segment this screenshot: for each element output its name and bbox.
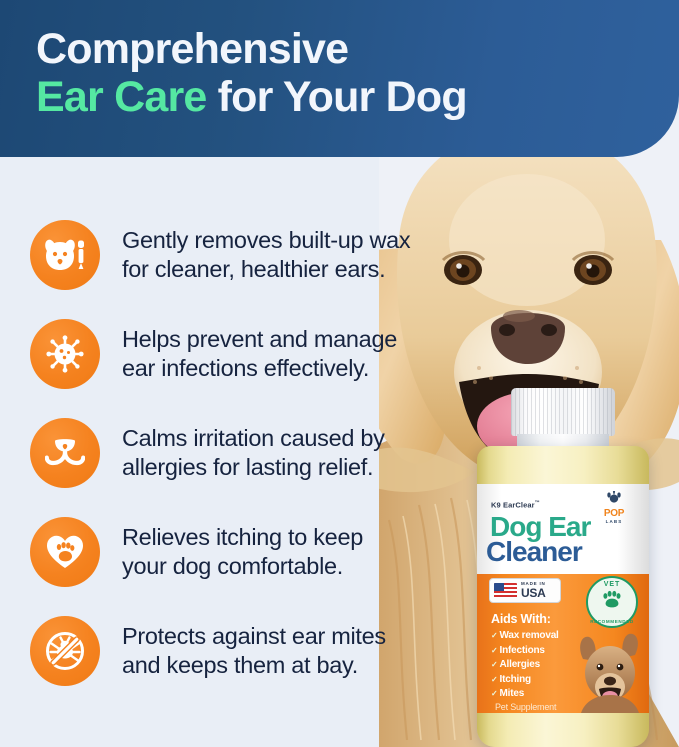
feature-item: Relieves itching to keep your dog comfor… bbox=[30, 502, 500, 601]
supplement-label: Pet Supplement bbox=[495, 702, 556, 712]
product-bottle: K9 EarClear™ POP LABS bbox=[477, 388, 649, 747]
poplabs-mark-icon bbox=[606, 491, 622, 508]
aids-list-item: ✓Allergies bbox=[491, 658, 559, 673]
feature-text: Protects against ear mites and keeps the… bbox=[122, 622, 386, 680]
feature-text-line: ear infections effectively. bbox=[122, 354, 397, 383]
headline-tail-text: for Your Dog bbox=[207, 73, 467, 121]
feature-text-line: Relieves itching to keep bbox=[122, 523, 363, 552]
label-brand-line: K9 EarClear™ bbox=[491, 500, 540, 510]
feature-text: Helps prevent and manage ear infections … bbox=[122, 325, 397, 383]
headline-accent-text: Ear Care bbox=[36, 73, 207, 121]
aids-list-item: ✓Itching bbox=[491, 673, 559, 688]
trademark-symbol: ™ bbox=[535, 500, 540, 506]
aids-item-label: Wax removal bbox=[500, 630, 559, 641]
feature-item: Calms irritation caused by allergies for… bbox=[30, 403, 500, 502]
feature-text: Gently removes built-up wax for cleaner,… bbox=[122, 226, 410, 284]
bottle-body: K9 EarClear™ POP LABS bbox=[477, 446, 649, 747]
feature-icon-circle bbox=[30, 616, 100, 686]
aids-with-title: Aids With: bbox=[491, 612, 551, 626]
aids-list-item: ✓Wax removal bbox=[491, 629, 559, 644]
feature-text-line: allergies for lasting relief. bbox=[122, 453, 385, 482]
vet-badge-inner: VET RECOMMENDED bbox=[588, 576, 636, 628]
feature-text-line: your dog comfortable. bbox=[122, 552, 363, 581]
usa-text: USA bbox=[521, 587, 546, 599]
feature-text: Calms irritation caused by allergies for… bbox=[122, 424, 385, 482]
dropper-cap bbox=[511, 388, 615, 436]
label-dog-photo bbox=[573, 625, 647, 713]
bottle-label: K9 EarClear™ POP LABS bbox=[477, 484, 649, 713]
feature-icon-circle bbox=[30, 517, 100, 587]
feature-text-line: Calms irritation caused by bbox=[122, 424, 385, 453]
feature-text-line: Helps prevent and manage bbox=[122, 325, 397, 354]
header-banner: Comprehensive Ear Care for Your Dog bbox=[0, 0, 679, 157]
vet-badge-top-text: VET bbox=[588, 581, 636, 588]
usa-flag-icon bbox=[494, 583, 517, 598]
feature-text-line: for cleaner, healthier ears. bbox=[122, 255, 410, 284]
check-icon: ✓ bbox=[491, 646, 498, 655]
feature-icon-circle bbox=[30, 220, 100, 290]
no-mite-icon bbox=[45, 631, 85, 671]
heart-paw-icon bbox=[46, 534, 84, 569]
feature-text: Relieves itching to keep your dog comfor… bbox=[122, 523, 363, 581]
dog-snout-icon bbox=[45, 438, 85, 468]
poplabs-sublabel: LABS bbox=[595, 519, 633, 525]
aids-with-list: ✓Wax removal ✓Infections ✓Allergies ✓Itc… bbox=[491, 629, 559, 702]
poplabs-logo: POP LABS bbox=[595, 491, 633, 525]
dog-head-dropper-icon bbox=[44, 238, 86, 272]
feature-text-line: Protects against ear mites bbox=[122, 622, 386, 651]
headline-block: Comprehensive Ear Care for Your Dog bbox=[36, 25, 646, 121]
usa-badge-text: MADE IN USA bbox=[521, 582, 546, 599]
feature-list: Gently removes built-up wax for cleaner,… bbox=[30, 205, 500, 700]
poplabs-wordmark: POP bbox=[595, 509, 633, 519]
feature-item: Gently removes built-up wax for cleaner,… bbox=[30, 205, 500, 304]
aids-list-item: ✓Mites bbox=[491, 687, 559, 702]
check-icon: ✓ bbox=[491, 675, 498, 684]
aids-item-label: Infections bbox=[500, 645, 545, 656]
brand-name-text: K9 EarClear bbox=[491, 501, 535, 510]
paw-print-icon bbox=[602, 590, 622, 613]
headline-line-2: Ear Care for Your Dog bbox=[36, 73, 646, 121]
vet-recommended-badge: VET RECOMMENDED bbox=[586, 576, 638, 628]
check-icon: ✓ bbox=[491, 631, 498, 640]
feature-text-line: Gently removes built-up wax bbox=[122, 226, 410, 255]
check-icon: ✓ bbox=[491, 660, 498, 669]
product-title-line-2: Cleaner bbox=[486, 538, 582, 566]
aids-list-item: ✓Infections bbox=[491, 644, 559, 659]
aids-item-label: Itching bbox=[500, 674, 531, 685]
made-in-usa-badge: MADE IN USA bbox=[489, 578, 561, 603]
product-infographic: Comprehensive Ear Care for Your Dog bbox=[0, 0, 679, 747]
feature-icon-circle bbox=[30, 319, 100, 389]
feature-text-line: and keeps them at bay. bbox=[122, 651, 386, 680]
aids-item-label: Mites bbox=[500, 688, 525, 699]
feature-item: Helps prevent and manage ear infections … bbox=[30, 304, 500, 403]
vet-badge-bottom-text: RECOMMENDED bbox=[588, 619, 636, 624]
germ-virus-icon bbox=[46, 335, 84, 373]
aids-item-label: Allergies bbox=[500, 659, 540, 670]
feature-item: Protects against ear mites and keeps the… bbox=[30, 601, 500, 700]
check-icon: ✓ bbox=[491, 689, 498, 698]
feature-icon-circle bbox=[30, 418, 100, 488]
headline-line-1: Comprehensive bbox=[36, 25, 646, 73]
